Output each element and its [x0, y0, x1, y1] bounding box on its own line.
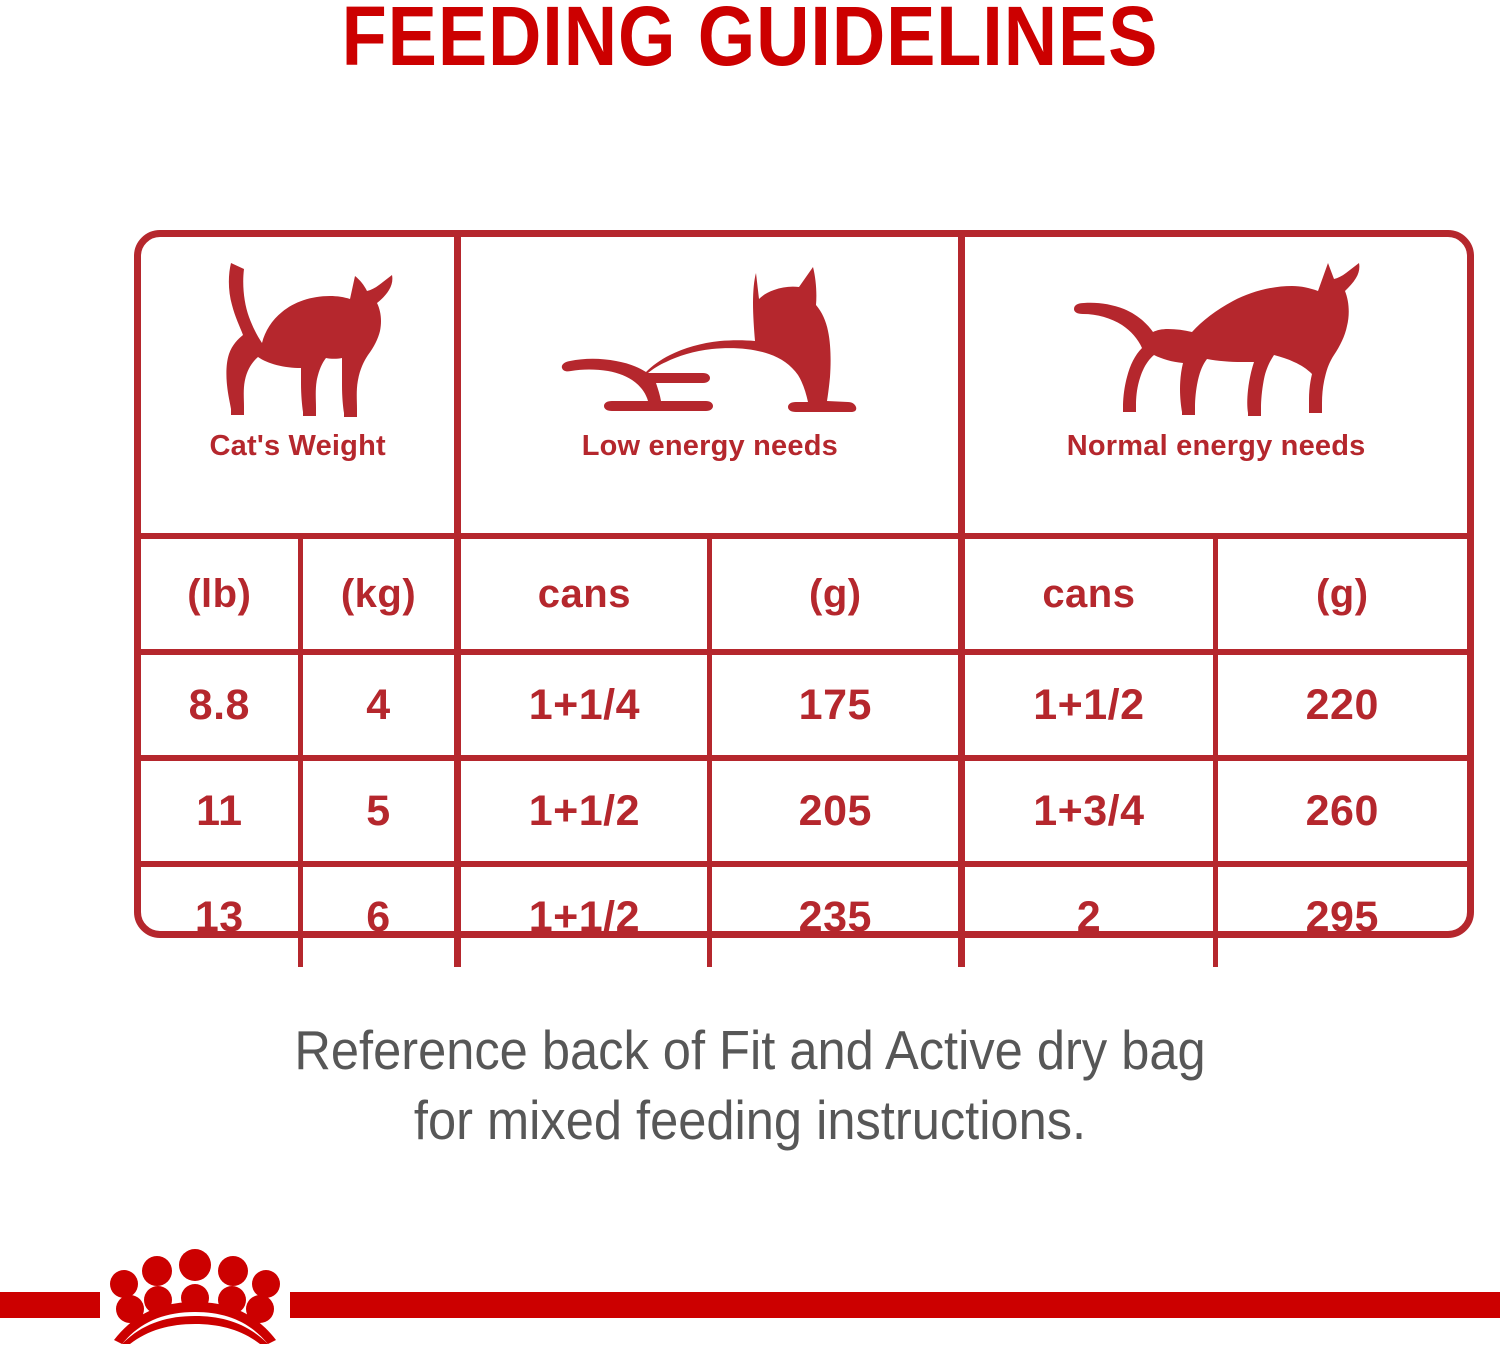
royal-canin-crown-icon: [100, 1248, 290, 1344]
table-row: 13 6 1+1/2 235 2 295: [141, 864, 1467, 967]
unit-header-row: (lb) (kg) cans (g) cans (g): [141, 536, 1467, 652]
cell-normal-g: 260: [1215, 758, 1467, 864]
group-header-label-cat-weight: Cat's Weight: [210, 430, 386, 463]
unit-header-lb: (lb): [141, 536, 300, 652]
cell-low-g: 235: [710, 864, 962, 967]
cell-normal-cans: 1+3/4: [962, 758, 1215, 864]
group-header-cat-weight: Cat's Weight: [141, 237, 458, 536]
unit-header-kg: (kg): [300, 536, 458, 652]
group-header-label-normal-energy: Normal energy needs: [1067, 430, 1366, 463]
lying-cat-icon: [560, 255, 860, 420]
footnote-line-2: for mixed feeding instructions.: [60, 1085, 1440, 1155]
table-row: 8.8 4 1+1/4 175 1+1/2 220: [141, 652, 1467, 758]
walking-cat-icon: [1066, 255, 1366, 420]
cell-low-cans: 1+1/2: [458, 864, 710, 967]
cell-weight-lb: 13: [141, 864, 300, 967]
cell-normal-cans: 2: [962, 864, 1215, 967]
brand-bar: [0, 1240, 1500, 1344]
sitting-cat-icon: [198, 255, 398, 420]
group-header-row: Cat's Weight Low energy needs: [141, 237, 1467, 536]
cell-normal-g: 220: [1215, 652, 1467, 758]
cell-low-g: 175: [710, 652, 962, 758]
unit-header-normal-cans: cans: [962, 536, 1215, 652]
feeding-guidelines-table: Cat's Weight Low energy needs: [134, 230, 1474, 938]
page-title: FEEDING GUIDELINES: [90, 0, 1410, 80]
unit-header-low-g: (g): [710, 536, 962, 652]
group-header-low-energy: Low energy needs: [458, 237, 962, 536]
group-header-label-low-energy: Low energy needs: [582, 430, 838, 463]
cell-weight-lb: 8.8: [141, 652, 300, 758]
brand-bar-left-rule: [0, 1292, 100, 1318]
unit-header-low-cans: cans: [458, 536, 710, 652]
table-row: 11 5 1+1/2 205 1+3/4 260: [141, 758, 1467, 864]
cell-weight-kg: 4: [300, 652, 458, 758]
brand-bar-right-rule: [290, 1292, 1500, 1318]
cell-weight-kg: 5: [300, 758, 458, 864]
cell-low-cans: 1+1/2: [458, 758, 710, 864]
cell-low-g: 205: [710, 758, 962, 864]
group-header-normal-energy: Normal energy needs: [962, 237, 1467, 536]
footnote: Reference back of Fit and Active dry bag…: [60, 1015, 1440, 1156]
cell-weight-lb: 11: [141, 758, 300, 864]
footnote-line-1: Reference back of Fit and Active dry bag: [60, 1015, 1440, 1085]
cell-weight-kg: 6: [300, 864, 458, 967]
unit-header-normal-g: (g): [1215, 536, 1467, 652]
cell-normal-g: 295: [1215, 864, 1467, 967]
cell-low-cans: 1+1/4: [458, 652, 710, 758]
cell-normal-cans: 1+1/2: [962, 652, 1215, 758]
